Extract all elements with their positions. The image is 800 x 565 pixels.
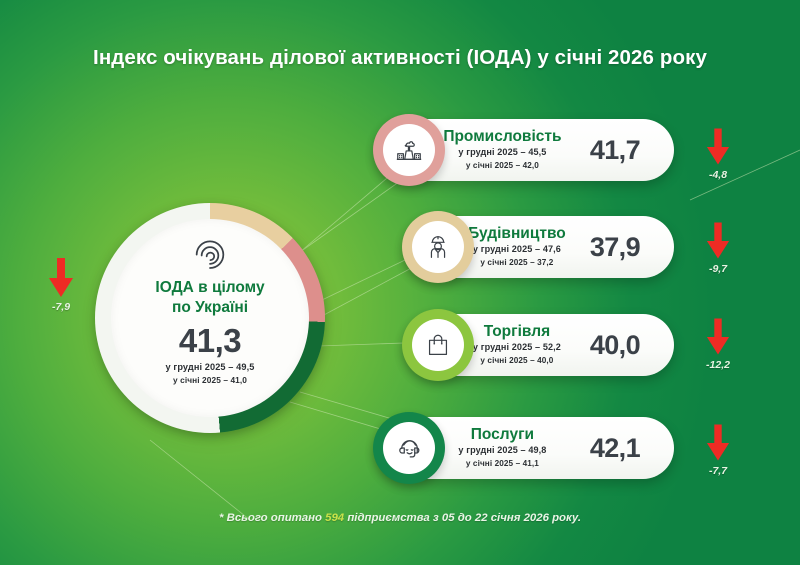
donut-value: 41,3	[179, 324, 241, 357]
construction-worker-icon	[423, 232, 453, 262]
overall-delta-value: -7,9	[28, 301, 94, 313]
footnote-before: * Всього опитано	[219, 512, 325, 524]
sector-prev-month: у грудні 2025 – 49,8	[458, 444, 546, 457]
arrow-down-icon	[706, 424, 730, 462]
sector-delta-value: -4,8	[688, 169, 748, 181]
sector-delta-services: -7,7	[688, 424, 748, 477]
donut-prev-year: у січні 2025 – 41,0	[173, 374, 247, 386]
sector-value: 40,0	[582, 330, 674, 361]
arrow-down-icon	[706, 318, 730, 356]
arrow-down-icon	[48, 258, 74, 298]
arrow-down-icon	[706, 222, 730, 260]
sector-card-industry[interactable]: Промисловість у грудні 2025 – 45,5 у січ…	[377, 119, 674, 181]
sector-delta-value: -9,7	[688, 263, 748, 275]
spiral-logo-icon	[190, 233, 230, 273]
sector-card-construction[interactable]: Будівництво у грудні 2025 – 47,6 у січні…	[406, 216, 674, 278]
factory-icon	[394, 135, 424, 165]
overall-delta: -7,9	[28, 258, 94, 313]
sector-name: Послуги	[471, 426, 534, 443]
donut-label-line1: ІОДА в цілому	[155, 279, 264, 297]
sector-badge-industry	[373, 114, 445, 186]
sector-delta-construction: -9,7	[688, 222, 748, 275]
sector-prev-year: у січні 2025 – 40,0	[480, 355, 553, 366]
sector-value: 41,7	[582, 135, 674, 166]
footnote: * Всього опитано 594 підприємства з 05 д…	[0, 512, 800, 524]
sector-delta-value: -12,2	[688, 359, 748, 371]
sector-card-services[interactable]: Послуги у грудні 2025 – 49,8 у січні 202…	[377, 417, 674, 479]
sector-prev-month: у грудні 2025 – 45,5	[458, 146, 546, 159]
support-operator-icon	[394, 433, 425, 464]
sector-badge-construction	[402, 211, 474, 283]
arrow-down-icon	[706, 128, 730, 166]
sector-badge-trade	[402, 309, 474, 381]
sector-prev-year: у січні 2025 – 37,2	[480, 257, 553, 268]
sector-card-trade[interactable]: Торгівля у грудні 2025 – 52,2 у січні 20…	[406, 314, 674, 376]
sector-prev-month: у грудні 2025 – 52,2	[473, 341, 561, 354]
sector-badge-services	[373, 412, 445, 484]
donut-label-line2: по Україні	[172, 299, 248, 317]
sector-delta-industry: -4,8	[688, 128, 748, 181]
footnote-after: підприємства з 05 до 22 січня 2026 року.	[344, 512, 581, 524]
sector-name: Промисловість	[443, 128, 561, 145]
sector-value: 37,9	[582, 232, 674, 263]
sector-prev-year: у січні 2025 – 42,0	[466, 160, 539, 171]
sector-delta-value: -7,7	[688, 465, 748, 477]
shopping-bag-icon	[423, 330, 453, 360]
sector-prev-year: у січні 2025 – 41,1	[466, 458, 539, 469]
overall-donut-chart: ІОДА в цілому по Україні 41,3 у грудні 2…	[95, 203, 325, 433]
sector-name: Будівництво	[468, 225, 566, 242]
sector-delta-trade: -12,2	[688, 318, 748, 371]
infographic-canvas: Індекс очікувань ділової активності (ІОД…	[0, 0, 800, 565]
sector-name: Торгівля	[484, 323, 550, 340]
donut-prev-month: у грудні 2025 – 49,5	[166, 361, 255, 374]
footnote-count: 594	[325, 512, 344, 524]
page-title: Індекс очікувань ділової активності (ІОД…	[0, 46, 800, 70]
sector-value: 42,1	[582, 433, 674, 464]
sector-prev-month: у грудні 2025 – 47,6	[473, 243, 561, 256]
